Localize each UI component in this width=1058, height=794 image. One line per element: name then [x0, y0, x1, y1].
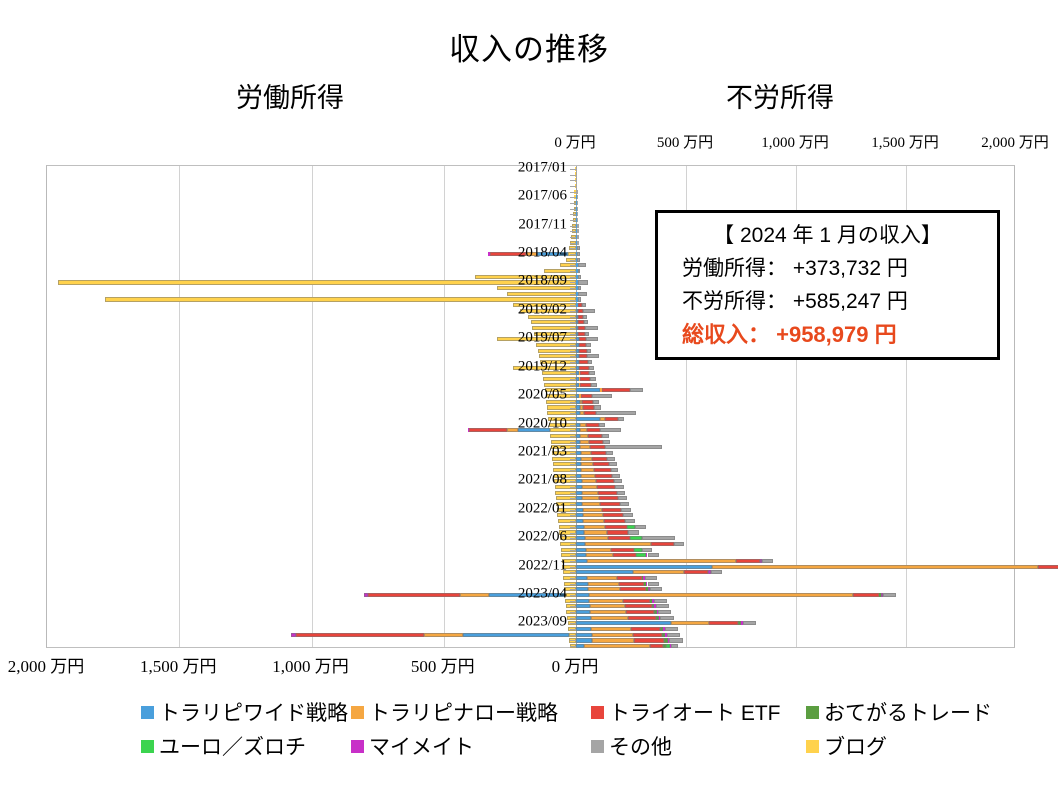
legend-swatch-icon — [591, 740, 604, 753]
bar-right-トライオート ETF-2019/10 — [579, 354, 587, 358]
bar-right-トラリピナロー戦略-2023/03 — [588, 587, 620, 591]
bar-right-トラリピナロー戦略-2022/06 — [585, 536, 608, 540]
gridline-left-500 — [444, 166, 445, 647]
legend-label: マイメイト — [369, 731, 474, 761]
bar-right-トライオート ETF-2021/06 — [594, 468, 611, 472]
category-tick-2021/07 — [570, 476, 576, 477]
bar-right-その他-2019/04 — [584, 320, 588, 324]
bar-left-loss-etf-2023/11 — [296, 633, 424, 637]
legend-label: トラリピナロー戦略 — [369, 697, 558, 727]
bar-right-トラリピナロー戦略-2023/02 — [588, 582, 619, 586]
bar-right-トライオート ETF-2024/01 — [650, 644, 663, 648]
legend-label: トラリピワイド戦略 — [159, 697, 348, 727]
category-tick-2022/05 — [570, 533, 576, 534]
top-tick-0: 0 万円 — [554, 131, 595, 152]
bar-right-トラリピナロー戦略-2021/07 — [581, 474, 595, 478]
bar-right-トライオート ETF-2022/05 — [607, 530, 629, 534]
bar-right-トラリピナロー戦略-2023/01 — [587, 576, 617, 580]
chart-legend: トラリピワイド戦略トラリピナロー戦略トライオート ETFおてがるトレードユーロ／… — [46, 697, 1046, 763]
bar-right-トライオート ETF-2019/07 — [579, 337, 586, 341]
bar-right-その他-2022/02 — [623, 513, 633, 517]
bar-right-トラリピナロー戦略-2022/09 — [586, 553, 612, 557]
category-tick-2018/04 — [570, 254, 576, 255]
bar-right-トライオート ETF-2021/10 — [598, 491, 616, 495]
bar-right-トラリピワイド戦略-2023/12 — [576, 638, 592, 642]
category-tick-2022/10 — [570, 561, 576, 562]
bar-right-トラリピナロー戦略-2021/04 — [581, 457, 592, 461]
bar-right-トラリピナロー戦略-2023/10 — [591, 627, 631, 631]
bar-right-その他-2020/06 — [593, 400, 599, 404]
bar-right-トライオート ETF-2023/08 — [628, 616, 656, 620]
category-label-2022-01: 2022/01 — [495, 500, 567, 517]
top-axis-tick-labels: 0 万円500 万円1,000 万円1,500 万円2,000 万円 — [0, 131, 1058, 153]
bar-right-トライオート ETF-2022/10 — [736, 559, 760, 563]
category-tick-2020/05 — [570, 396, 576, 397]
bar-right-トライオート ETF-2021/03 — [591, 451, 606, 455]
bar-right-トライオート ETF-2021/07 — [595, 474, 612, 478]
category-tick-2019/02 — [570, 311, 576, 312]
bar-right-トラリピナロー戦略-2021/11 — [582, 496, 599, 500]
bar-right-トラリピナロー戦略-2021/08 — [582, 479, 597, 483]
category-tick-2022/09 — [570, 555, 576, 556]
bar-right-トラリピナロー戦略-2022/11 — [712, 565, 1038, 569]
bar-right-その他-2017/03 — [576, 178, 577, 182]
bar-right-その他-2020/05 — [592, 394, 612, 398]
category-tick-2022/06 — [570, 538, 576, 539]
gridline-left-1000 — [312, 166, 313, 647]
bar-right-トライオート ETF-2022/08 — [611, 548, 634, 552]
bar-right-その他-2017/07 — [577, 201, 578, 205]
bar-right-トライオート ETF-2020/06 — [582, 400, 593, 404]
bar-right-その他-2019/02 — [583, 309, 595, 313]
bar-right-トラリピワイド戦略-2023/06 — [576, 604, 590, 608]
category-tick-2023/11 — [570, 635, 576, 636]
subtitle-labor-income: 労働所得 — [130, 76, 450, 115]
category-tick-2020/09 — [570, 419, 576, 420]
category-label-2019-07: 2019/07 — [495, 330, 567, 347]
bar-right-トラリピナロー戦略-2021/01 — [580, 440, 588, 444]
bar-right-トライオート ETF-2023/11 — [633, 633, 662, 637]
bar-right-その他-2019/07 — [586, 337, 599, 341]
bar-right-その他-2022/09 — [648, 553, 659, 557]
bar-right-トラリピワイド戦略-2023/01 — [576, 576, 587, 580]
bar-right-トライオート ETF-2023/04 — [853, 593, 879, 597]
callout-labor-income: 労働所得： +373,732 円 — [658, 252, 997, 285]
callout-total-income: 総収入： +958,979 円 — [658, 318, 997, 351]
category-tick-2019/10 — [570, 356, 576, 357]
bar-right-その他-2017/06 — [577, 195, 578, 199]
legend-swatch-icon — [351, 706, 364, 719]
bar-right-トライオート ETF-2022/07 — [651, 542, 673, 546]
category-tick-2017/12 — [570, 231, 576, 232]
bar-right-その他-2018/05 — [577, 258, 579, 262]
bar-right-その他-2017/11 — [577, 224, 579, 228]
bar-right-その他-2021/10 — [617, 491, 626, 495]
category-tick-2017/04 — [570, 186, 576, 187]
bar-right-その他-2017/12 — [577, 229, 579, 233]
category-tick-2019/01 — [570, 305, 576, 306]
bar-right-トラリピナロー戦略-2022/01 — [583, 508, 602, 512]
bar-right-トラリピワイド戦略-2020/09 — [576, 417, 600, 421]
bar-right-トラリピワイド戦略-2024/01 — [576, 644, 584, 648]
category-tick-2022/02 — [570, 515, 576, 516]
gridline-left-1500 — [179, 166, 180, 647]
bar-right-トラリピワイド戦略-2023/07 — [576, 610, 590, 614]
bar-right-トライオート ETF-2023/01 — [617, 576, 642, 580]
category-tick-2017/05 — [570, 192, 576, 193]
category-tick-2021/12 — [570, 504, 576, 505]
bar-right-その他-2019/08 — [586, 343, 590, 347]
bar-right-その他-2019/01 — [582, 303, 586, 307]
bar-right-トラリピナロー戦略-2023/06 — [590, 604, 625, 608]
bar-right-その他-2018/12 — [578, 297, 581, 301]
bar-right-トラリピナロー戦略-2021/03 — [581, 451, 591, 455]
category-tick-2017/11 — [570, 226, 576, 227]
bar-right-その他-2023/12 — [669, 638, 683, 642]
category-label-2021-03: 2021/03 — [495, 443, 567, 460]
bar-right-トラリピナロー戦略-2021/06 — [581, 468, 594, 472]
bar-left-loss-mymate-2018/04 — [488, 252, 490, 256]
bar-right-トライオート ETF-2023/10 — [631, 627, 660, 631]
category-tick-2023/05 — [570, 601, 576, 602]
category-tick-2018/02 — [570, 243, 576, 244]
category-tick-2022/04 — [570, 527, 576, 528]
bar-right-トライオート ETF-2023/03 — [620, 587, 646, 591]
category-tick-2018/08 — [570, 277, 576, 278]
bottom-tick-0: 2,000 万円 — [8, 652, 85, 677]
bar-right-トラリピワイド戦略-2023/08 — [576, 616, 591, 620]
bar-right-その他-2021/09 — [615, 485, 624, 489]
bar-right-トラリピナロー戦略-2022/03 — [583, 519, 604, 523]
bar-right-トラリピナロー戦略-2022/02 — [583, 513, 603, 517]
bar-right-トラリピワイド戦略-2022/05 — [576, 530, 584, 534]
bar-right-その他-2019/09 — [587, 349, 592, 353]
category-tick-2019/08 — [570, 345, 576, 346]
bar-right-その他-2022/03 — [625, 519, 635, 523]
bar-right-その他-2023/02 — [648, 582, 660, 586]
category-tick-2024/01 — [570, 646, 576, 647]
bar-right-トラリピナロー戦略-2021/02 — [580, 445, 589, 449]
category-label-2018-04: 2018/04 — [495, 245, 567, 262]
bar-right-トラリピワイド戦略-2022/02 — [576, 513, 583, 517]
bar-right-その他-2019/11 — [588, 360, 593, 364]
category-tick-2023/04 — [570, 595, 576, 596]
bar-right-トラリピナロー戦略-2023/09 — [671, 621, 710, 625]
category-tick-2023/03 — [570, 589, 576, 590]
bar-right-その他-2021/05 — [609, 462, 617, 466]
category-tick-2023/07 — [570, 612, 576, 613]
bar-left-loss-etf-2023/04 — [368, 593, 460, 597]
bar-right-トライオート ETF-2023/09 — [709, 621, 738, 625]
bar-right-トライオート ETF-2020/09 — [605, 417, 618, 421]
bar-right-トラリピナロー戦略-2022/04 — [584, 525, 606, 529]
bar-right-トライオート ETF-2020/02 — [580, 377, 590, 381]
bar-right-トラリピワイド戦略-2022/01 — [576, 508, 583, 512]
bar-right-その他-2023/09 — [743, 621, 756, 625]
bar-right-トライオート ETF-2021/12 — [600, 502, 619, 506]
bar-right-トライオート ETF-2019/12 — [579, 366, 588, 370]
category-tick-2023/02 — [570, 584, 576, 585]
legend-item-6[interactable]: その他 — [591, 731, 672, 761]
bar-right-その他-2018/11 — [578, 292, 587, 296]
category-tick-2017/08 — [570, 209, 576, 210]
bar-left-loss-narrow-2023/04 — [460, 593, 488, 597]
bar-right-トラリピナロー戦略-2022/05 — [584, 530, 606, 534]
bar-right-その他-2017/05 — [576, 190, 577, 194]
category-tick-2023/10 — [570, 629, 576, 630]
bar-right-その他-2018/04 — [577, 252, 579, 256]
bar-right-その他-2018/01 — [577, 235, 579, 239]
legend-swatch-icon — [591, 706, 604, 719]
category-tick-2020/06 — [570, 402, 576, 403]
category-tick-2021/08 — [570, 481, 576, 482]
bar-right-その他-2022/08 — [642, 548, 653, 552]
bottom-tick-3: 500 万円 — [411, 652, 475, 677]
category-label-2017-01: 2017/01 — [495, 159, 567, 176]
bar-right-トライオート ETF-2023/12 — [634, 638, 664, 642]
bar-right-トライオート ETF-2020/01 — [580, 371, 590, 375]
bar-right-その他-2023/04 — [883, 593, 895, 597]
category-tick-2019/09 — [570, 351, 576, 352]
bottom-tick-4: 0 万円 — [552, 652, 599, 677]
bar-right-その他-2021/01 — [603, 440, 610, 444]
bar-right-その他-2021/07 — [612, 474, 620, 478]
bar-right-その他-2021/06 — [611, 468, 619, 472]
bar-right-トライオート ETF-2020/05 — [581, 394, 592, 398]
bar-right-トライオート ETF-2022/04 — [605, 525, 626, 529]
legend-label: トライオート ETF — [609, 697, 781, 727]
bar-right-その他-2017/04 — [576, 184, 577, 188]
category-tick-2020/03 — [570, 385, 576, 386]
bottom-tick-1: 1,500 万円 — [140, 652, 217, 677]
category-tick-2020/02 — [570, 379, 576, 380]
category-tick-2020/04 — [570, 390, 576, 391]
category-tick-2023/06 — [570, 606, 576, 607]
bar-right-その他-2022/06 — [642, 536, 675, 540]
bar-right-その他-2020/02 — [590, 377, 596, 381]
bar-right-トラリピワイド戦略-2023/09 — [576, 621, 671, 625]
bar-right-その他-2020/03 — [591, 383, 597, 387]
bar-right-ユーロ／ズロチ-2022/08 — [634, 548, 642, 552]
bar-right-その他-2021/04 — [607, 457, 614, 461]
bar-right-トラリピワイド戦略-2022/09 — [576, 553, 586, 557]
legend-item-7[interactable]: ブログ — [806, 731, 887, 761]
bar-right-トラリピワイド戦略-2022/08 — [576, 548, 586, 552]
category-tick-2017/06 — [570, 197, 576, 198]
category-label-2018-09: 2018/09 — [495, 273, 567, 290]
bar-right-その他-2019/05 — [585, 326, 599, 330]
bar-right-トライオート ETF-2022/03 — [604, 519, 625, 523]
bar-right-その他-2022/04 — [635, 525, 645, 529]
bar-right-トラリピワイド戦略-2022/12 — [576, 570, 633, 574]
bar-right-トライオート ETF-2022/09 — [613, 553, 636, 557]
category-tick-2022/03 — [570, 521, 576, 522]
bar-right-トラリピワイド戦略-2022/10 — [576, 559, 587, 563]
bar-right-トライオート ETF-2020/10 — [586, 423, 599, 427]
category-tick-2019/06 — [570, 334, 576, 335]
category-tick-2018/12 — [570, 300, 576, 301]
bar-right-その他-2023/06 — [656, 604, 669, 608]
category-label-2022-11: 2022/11 — [495, 557, 567, 574]
bar-right-トライオート ETF-2020/07 — [583, 405, 595, 409]
bar-right-その他-2023/03 — [650, 587, 662, 591]
bar-right-その他-2023/07 — [658, 610, 671, 614]
bar-right-トライオート ETF-2020/08 — [584, 411, 596, 415]
bar-right-その他-2023/01 — [645, 576, 657, 580]
bar-right-トライオート ETF-2021/04 — [592, 457, 608, 461]
legend-item-4[interactable]: ユーロ／ズロチ — [141, 731, 306, 761]
bar-right-その他-2017/02 — [576, 172, 577, 176]
category-tick-2019/03 — [570, 317, 576, 318]
category-tick-2017/07 — [570, 203, 576, 204]
bar-right-その他-2018/02 — [577, 241, 579, 245]
bar-right-トラリピナロー戦略-2024/01 — [584, 644, 650, 648]
top-tick-1: 500 万円 — [657, 131, 713, 152]
bar-right-ユーロ／ズロチ-2022/04 — [627, 525, 636, 529]
category-tick-2021/03 — [570, 453, 576, 454]
bar-right-その他-2019/10 — [587, 354, 598, 358]
legend-item-3[interactable]: おてがるトレード — [806, 697, 992, 727]
bar-right-その他-2020/12 — [602, 434, 609, 438]
category-tick-2022/08 — [570, 550, 576, 551]
category-tick-2020/11 — [570, 430, 576, 431]
category-tick-2018/07 — [570, 271, 576, 272]
bar-right-トラリピワイド戦略-2022/11 — [576, 565, 712, 569]
legend-item-2[interactable]: トライオート ETF — [591, 697, 781, 727]
legend-item-5[interactable]: マイメイト — [351, 731, 474, 761]
page-title: 収入の推移 — [0, 24, 1058, 69]
category-label-2017-11: 2017/11 — [495, 216, 567, 233]
category-label-2021-08: 2021/08 — [495, 472, 567, 489]
legend-swatch-icon — [806, 740, 819, 753]
top-tick-3: 1,500 万円 — [871, 131, 939, 152]
subtitle-passive-income: 不労所得 — [620, 76, 940, 115]
category-tick-2018/01 — [570, 237, 576, 238]
bar-right-トラリピワイド戦略-2023/04 — [576, 593, 589, 597]
bar-left-loss-wide-2023/11 — [463, 633, 569, 637]
category-tick-2019/05 — [570, 328, 576, 329]
bar-right-トライオート ETF-2019/09 — [579, 349, 587, 353]
bar-right-トラリピワイド戦略-2023/05 — [576, 599, 589, 603]
bar-right-トラリピナロー戦略-2022/10 — [587, 559, 737, 563]
bar-right-トラリピナロー戦略-2021/05 — [581, 462, 593, 466]
category-tick-2021/04 — [570, 459, 576, 460]
bar-right-トライオート ETF-2019/08 — [579, 343, 586, 347]
legend-item-1[interactable]: トラリピナロー戦略 — [351, 697, 558, 727]
category-tick-2023/12 — [570, 640, 576, 641]
category-tick-2022/07 — [570, 544, 576, 545]
bar-left-blog-2018/11 — [507, 292, 576, 296]
bar-right-ユーロ／ズロチ-2022/06 — [630, 536, 642, 540]
bar-right-トライオート ETF-2022/11 — [1038, 565, 1058, 569]
bar-right-トラリピワイド戦略-2023/10 — [576, 627, 591, 631]
bar-right-ユーロ／ズロチ-2022/09 — [636, 553, 646, 557]
category-tick-2020/10 — [570, 425, 576, 426]
bar-right-その他-2018/07 — [578, 269, 581, 273]
legend-label: おてがるトレード — [824, 697, 992, 727]
bar-right-トライオート ETF-2020/11 — [587, 428, 601, 432]
category-label-2020-05: 2020/05 — [495, 387, 567, 404]
bar-right-トライオート ETF-2022/06 — [608, 536, 630, 540]
bar-right-その他-2017/10 — [577, 218, 579, 222]
bar-right-その他-2021/02 — [605, 445, 662, 449]
bar-right-その他-2023/10 — [665, 627, 679, 631]
bar-right-その他-2017/08 — [577, 207, 578, 211]
bar-right-その他-2020/10 — [599, 423, 606, 427]
legend-label: ブログ — [824, 731, 887, 761]
bar-right-その他-2020/09 — [618, 417, 624, 421]
category-tick-2023/01 — [570, 578, 576, 579]
category-tick-2021/10 — [570, 493, 576, 494]
legend-swatch-icon — [351, 740, 364, 753]
top-tick-4: 2,000 万円 — [981, 131, 1049, 152]
bar-right-トラリピナロー戦略-2023/04 — [589, 593, 853, 597]
bar-right-その他-2023/05 — [654, 599, 667, 603]
legend-swatch-icon — [141, 706, 154, 719]
bar-left-loss-mymate-2020/11 — [468, 428, 470, 432]
bar-right-その他-2022/12 — [711, 570, 722, 574]
bar-right-トラリピワイド戦略-2022/03 — [576, 519, 583, 523]
category-label-2022-06: 2022/06 — [495, 529, 567, 546]
bar-right-その他-2023/08 — [660, 616, 673, 620]
category-tick-2018/09 — [570, 282, 576, 283]
bar-right-その他-2020/08 — [596, 411, 636, 415]
bar-left-loss-mymate-2023/11 — [291, 633, 297, 637]
bar-right-トラリピナロー戦略-2022/12 — [633, 570, 684, 574]
category-tick-2021/01 — [570, 442, 576, 443]
bar-right-トラリピナロー戦略-2021/09 — [582, 485, 597, 489]
bar-right-トラリピナロー戦略-2022/07 — [585, 542, 651, 546]
bar-right-トラリピナロー戦略-2021/12 — [582, 502, 600, 506]
bar-left-loss-mymate-2023/04 — [364, 593, 368, 597]
category-tick-2017/10 — [570, 220, 576, 221]
legend-item-0[interactable]: トラリピワイド戦略 — [141, 697, 348, 727]
bar-right-その他-2019/03 — [583, 315, 587, 319]
category-tick-2019/11 — [570, 362, 576, 363]
category-tick-2017/02 — [570, 175, 576, 176]
category-tick-2019/04 — [570, 322, 576, 323]
category-tick-2020/01 — [570, 373, 576, 374]
category-tick-2017/09 — [570, 214, 576, 215]
category-tick-2021/09 — [570, 487, 576, 488]
category-tick-2020/08 — [570, 413, 576, 414]
bar-right-トライオート ETF-2021/01 — [589, 440, 604, 444]
bar-right-トラリピワイド戦略-2020/04 — [576, 388, 600, 392]
bar-right-その他-2020/04 — [630, 388, 643, 392]
bar-right-その他-2020/01 — [589, 371, 594, 375]
category-tick-2018/11 — [570, 294, 576, 295]
category-tick-2019/12 — [570, 368, 576, 369]
bottom-tick-2: 1,000 万円 — [272, 652, 349, 677]
category-tick-2020/12 — [570, 436, 576, 437]
bar-right-その他-2022/07 — [674, 542, 685, 546]
bar-right-その他-2021/03 — [606, 451, 613, 455]
category-tick-2023/08 — [570, 618, 576, 619]
category-label-2023-04: 2023/04 — [495, 586, 567, 603]
bar-right-その他-2017/09 — [577, 212, 579, 216]
category-tick-2017/03 — [570, 180, 576, 181]
category-tick-2021/11 — [570, 498, 576, 499]
bar-right-トライオート ETF-2021/08 — [596, 479, 614, 483]
category-tick-2022/12 — [570, 572, 576, 573]
bar-right-その他-2021/11 — [618, 496, 627, 500]
bar-right-トライオート ETF-2021/02 — [590, 445, 605, 449]
bar-right-その他-2023/11 — [667, 633, 681, 637]
bar-right-トラリピワイド戦略-2023/03 — [576, 587, 588, 591]
category-label-2023-09: 2023/09 — [495, 614, 567, 631]
bar-right-その他-2019/12 — [589, 366, 594, 370]
category-tick-2023/09 — [570, 623, 576, 624]
